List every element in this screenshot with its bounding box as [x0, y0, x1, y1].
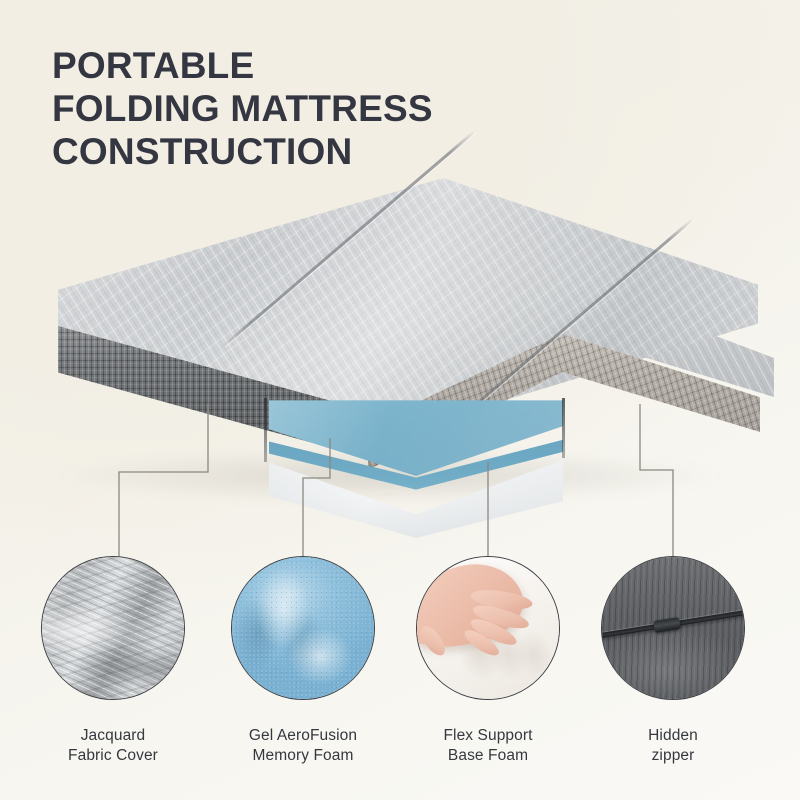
page-title: PORTABLE FOLDING MATTRESS CONSTRUCTION — [52, 44, 572, 173]
gel-memory-foam-layer — [266, 398, 566, 476]
caption-line-1: Hidden — [578, 726, 768, 746]
caption-line-1: Gel AeroFusion — [208, 726, 398, 746]
caption-line-2: Fabric Cover — [18, 746, 208, 766]
zipper-pull — [653, 617, 681, 633]
feature-caption: Hidden zipper — [578, 726, 768, 766]
zipper-closeup-icon[interactable] — [601, 556, 745, 700]
title-line-1: PORTABLE — [52, 44, 572, 87]
fabric-weave-macro-icon[interactable] — [41, 556, 185, 700]
feature-caption: Gel AeroFusion Memory Foam — [208, 726, 398, 766]
product-illustration — [0, 120, 800, 550]
product-infographic: PORTABLE FOLDING MATTRESS CONSTRUCTION — [0, 0, 800, 800]
dark-fabric-texture — [602, 557, 744, 699]
gel-foam-texture — [232, 557, 374, 699]
feature-flex-support-base-foam[interactable]: Flex Support Base Foam — [393, 556, 583, 766]
hand-pressing-foam-icon[interactable] — [416, 556, 560, 700]
title-line-3: CONSTRUCTION — [52, 130, 572, 173]
caption-line-2: Base Foam — [393, 746, 583, 766]
folding-mattress — [38, 148, 768, 548]
cover-cut-edge-right — [562, 398, 565, 458]
feature-detail-row: Jacquard Fabric Cover Gel AeroFusion Mem… — [0, 556, 800, 796]
caption-line-2: zipper — [578, 746, 768, 766]
feature-caption: Jacquard Fabric Cover — [18, 726, 208, 766]
feature-hidden-zipper[interactable]: Hidden zipper — [578, 556, 768, 766]
fabric-texture — [42, 557, 184, 699]
white-foam-surface — [417, 557, 559, 699]
foam-cutaway-section — [266, 398, 566, 538]
caption-line-1: Jacquard — [18, 726, 208, 746]
blue-gel-foam-macro-icon[interactable] — [231, 556, 375, 700]
title-line-2: FOLDING MATTRESS — [52, 87, 572, 130]
feature-caption: Flex Support Base Foam — [393, 726, 583, 766]
feature-jacquard-fabric-cover[interactable]: Jacquard Fabric Cover — [18, 556, 208, 766]
feature-gel-aerofusion-memory-foam[interactable]: Gel AeroFusion Memory Foam — [208, 556, 398, 766]
caption-line-1: Flex Support — [393, 726, 583, 746]
caption-line-2: Memory Foam — [208, 746, 398, 766]
cover-cut-edge-left — [264, 398, 267, 462]
